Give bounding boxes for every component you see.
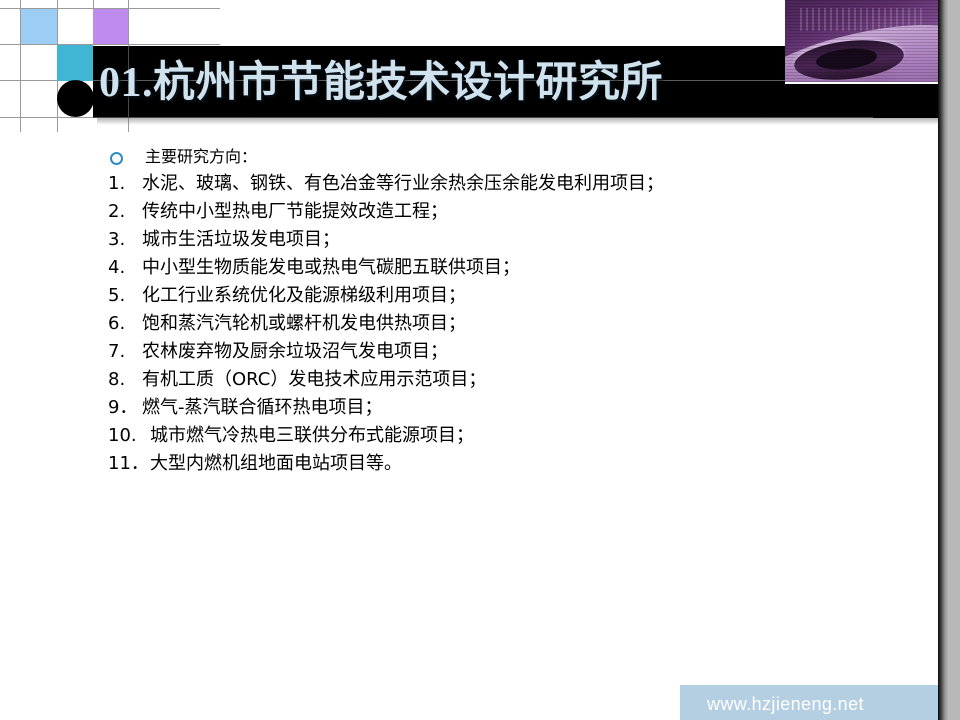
decor-ellipse [57, 80, 94, 117]
list-item: 5. 化工行业系统优化及能源梯级利用项目； [108, 282, 868, 310]
list-item: 6. 饱和蒸汽汽轮机或螺杆机发电供热项目； [108, 310, 868, 338]
decor-block-teal [57, 45, 93, 81]
gridline-horizontal [0, 117, 93, 118]
decor-block-blue [21, 9, 57, 44]
slide-edge-outer [948, 0, 960, 720]
list-item-marker: 9． [108, 394, 142, 422]
list-item: 4. 中小型生物质能发电或热电气碳肥五联供项目； [108, 254, 868, 282]
gridline-horizontal [0, 44, 220, 45]
list-item: 9． 燃气-蒸汽联合循环热电项目； [108, 394, 868, 422]
purple-disc-abstract-image [785, 0, 938, 82]
footer-url: www.hzjieneng.net [707, 694, 864, 715]
list-item-text: 传统中小型热电厂节能提效改造工程； [142, 198, 868, 226]
list-item: 7. 农林废弃物及厨余垃圾沼气发电项目； [108, 338, 868, 366]
list-item-marker: 7. [108, 338, 142, 366]
list-item-marker: 3. [108, 226, 142, 254]
list-item-text: 有机工质（ORC）发电技术应用示范项目； [142, 366, 868, 394]
list-item-text: 中小型生物质能发电或热电气碳肥五联供项目； [142, 254, 868, 282]
ring-bullet-icon [110, 152, 123, 165]
list-item-text: 化工行业系统优化及能源梯级利用项目； [142, 282, 868, 310]
image-scanlines [785, 0, 938, 82]
list-item-text: 水泥、玻璃、钢铁、有色冶金等行业余热余压余能发电利用项目； [142, 170, 868, 198]
list-item-marker: 8. [108, 366, 142, 394]
list-item-text: 饱和蒸汽汽轮机或螺杆机发电供热项目； [142, 310, 868, 338]
list-item-marker: 6. [108, 310, 142, 338]
slide-edge-shadow [938, 0, 948, 720]
page-title: 01.杭州市节能技术设计研究所 [99, 58, 663, 108]
list-item-text: 燃气-蒸汽联合循环热电项目； [142, 394, 868, 422]
list-item: 11． 大型内燃机组地面电站项目等。 [108, 450, 868, 478]
gridline-horizontal-overlay [93, 117, 873, 118]
title-bar-shadow [97, 118, 942, 125]
list-item-marker: 5. [108, 282, 142, 310]
content-lead-text: 主要研究方向： [145, 144, 257, 170]
list-item-marker: 11． [108, 450, 150, 478]
list-item-marker: 10. [108, 422, 150, 450]
list-item-text: 城市生活垃圾发电项目； [142, 226, 868, 254]
list-item: 3. 城市生活垃圾发电项目； [108, 226, 868, 254]
decor-block-purple [93, 9, 128, 44]
list-item: 2. 传统中小型热电厂节能提效改造工程； [108, 198, 868, 226]
list-item: 1. 水泥、玻璃、钢铁、有色冶金等行业余热余压余能发电利用项目； [108, 170, 868, 198]
list-item-marker: 2. [108, 198, 142, 226]
slide-content: 主要研究方向： 1. 水泥、玻璃、钢铁、有色冶金等行业余热余压余能发电利用项目；… [108, 144, 868, 478]
list-item-text: 大型内燃机组地面电站项目等。 [150, 450, 868, 478]
list-item-text: 城市燃气冷热电三联供分布式能源项目； [150, 422, 868, 450]
content-lead-row: 主要研究方向： [108, 144, 868, 170]
list-item: 10. 城市燃气冷热电三联供分布式能源项目； [108, 422, 868, 450]
presentation-slide: 01.杭州市节能技术设计研究所 主要研究方向： 1. 水泥、玻璃、钢铁、有色冶金… [0, 0, 960, 720]
list-item: 8. 有机工质（ORC）发电技术应用示范项目； [108, 366, 868, 394]
image-underline [785, 82, 938, 84]
list-item-text: 农林废弃物及厨余垃圾沼气发电项目； [142, 338, 868, 366]
list-item-marker: 4. [108, 254, 142, 282]
list-item-marker: 1. [108, 170, 142, 198]
